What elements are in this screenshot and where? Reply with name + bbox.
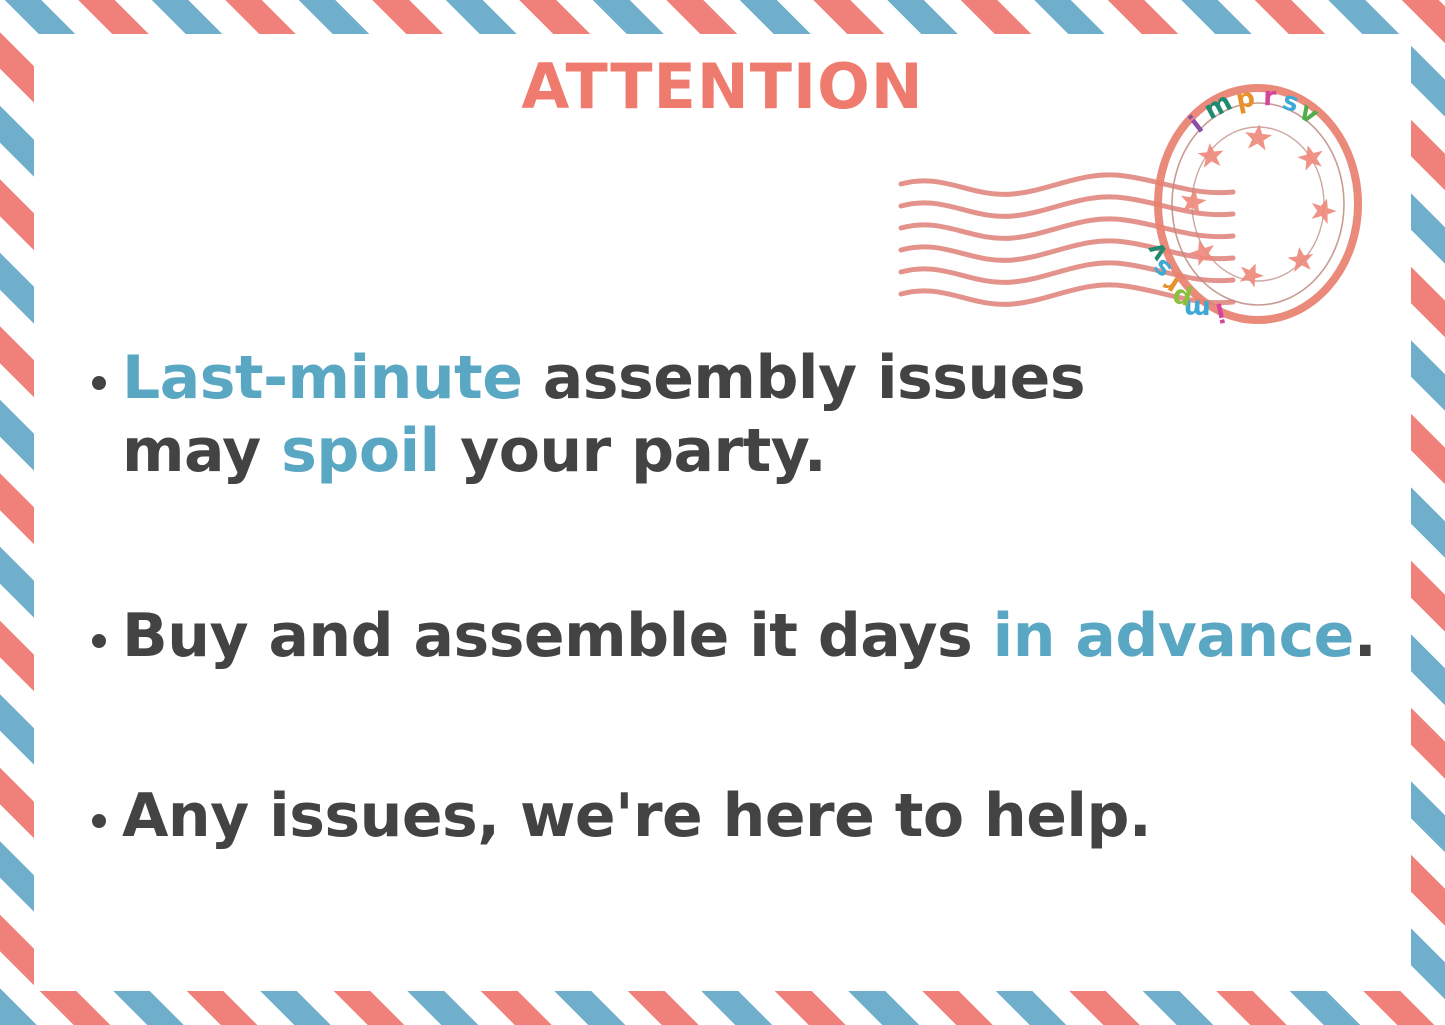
bullet-1-highlight-1: Last-minute xyxy=(122,343,522,413)
bullet-2-highlight-1: in advance xyxy=(993,601,1354,671)
svg-text:r: r xyxy=(1263,82,1277,112)
bullet-2-plain-2: . xyxy=(1354,601,1376,671)
bullet-1-highlight-2: spoil xyxy=(281,416,440,486)
bullet-3-line-1: Any issues, we're here to help. xyxy=(122,780,1385,853)
postmark-stars xyxy=(1178,123,1339,289)
attention-card: ATTENTION xyxy=(0,0,1445,1025)
bullet-2-text: Buy and assemble it days in advance. xyxy=(122,600,1385,673)
bullet-list: Last-minute assembly issues may spoil yo… xyxy=(92,342,1385,853)
bullet-2-plain-1: Buy and assemble it days xyxy=(122,601,993,671)
bullet-2-line-1: Buy and assemble it days in advance. xyxy=(122,600,1385,673)
bullet-1-plain-1: assembly issues xyxy=(522,343,1085,413)
list-item: Buy and assemble it days in advance. xyxy=(92,600,1385,673)
bullet-3-text: Any issues, we're here to help. xyxy=(122,780,1385,853)
bullet-1-plain-3: your party. xyxy=(440,416,827,486)
bullet-dot-icon xyxy=(92,376,106,390)
bullet-1-line-2: may spoil your party. xyxy=(122,415,1385,488)
bullet-1-plain-2: may xyxy=(122,416,281,486)
list-item: Last-minute assembly issues may spoil yo… xyxy=(92,342,1385,488)
bullet-dot-icon xyxy=(92,634,106,648)
bullet-1-text: Last-minute assembly issues may spoil yo… xyxy=(122,342,1385,488)
bullet-dot-icon xyxy=(92,814,106,828)
bullet-3-plain-1: Any issues, we're here to help. xyxy=(122,781,1151,851)
bullet-1-line-1: Last-minute assembly issues xyxy=(122,342,1385,415)
card-content: ATTENTION xyxy=(0,0,1445,1025)
postmark-stamp: i m p r s v i m p r s v xyxy=(893,78,1363,328)
list-item: Any issues, we're here to help. xyxy=(92,780,1385,853)
